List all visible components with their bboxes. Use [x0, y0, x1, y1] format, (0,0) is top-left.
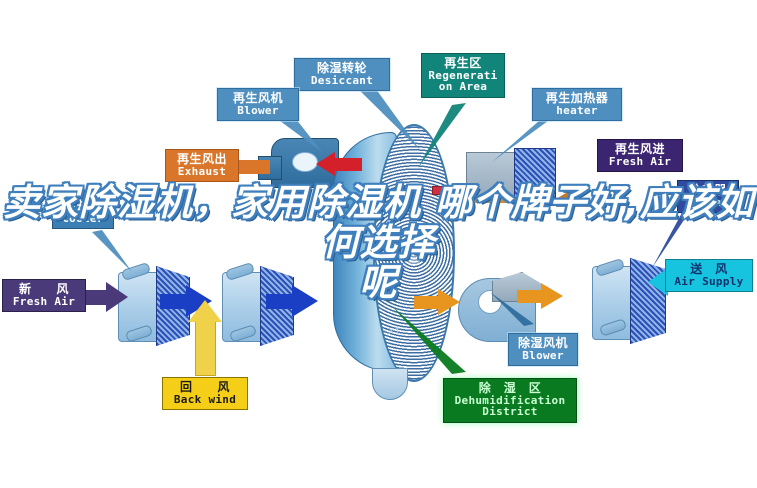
- process-flow-arrow-2: [266, 294, 294, 309]
- back-wind-flow-shaft: [195, 316, 216, 376]
- label-regeneration-heater[interactable]: 再生加热器 heater: [532, 88, 622, 121]
- label-regeneration-heater-cn: 再生加热器: [538, 92, 616, 105]
- label-cooler-right-cn: 冷却器: [683, 184, 733, 197]
- process-flow-arrowhead-2: [292, 285, 318, 317]
- regen-hot-flow-arrow: [334, 158, 362, 171]
- label-regeneration-exhaust-cn: 再生风出: [171, 153, 233, 166]
- label-air-supply[interactable]: 送 风 Air Supply: [665, 259, 753, 292]
- exhaust-flow-arrow: [236, 160, 270, 174]
- heater-base-strip: [466, 198, 566, 203]
- fresh-air-flow-arrow: [84, 290, 108, 305]
- label-cooler-right[interactable]: 冷却器 Cooler: [677, 180, 739, 213]
- label-back-wind-en: Back wind: [168, 394, 242, 406]
- label-back-wind[interactable]: 回 风 Back wind: [162, 377, 248, 410]
- regeneration-heater-body: [466, 152, 520, 202]
- label-fresh-air-inlet-cn: 新 风: [8, 283, 80, 296]
- regen-hot-flow-arrowhead: [316, 152, 335, 176]
- label-dehumidification-blower[interactable]: 除湿风机 Blower: [508, 333, 578, 366]
- back-wind-flow-arrowhead: [188, 300, 222, 322]
- dehumidifier-schematic-image: xt: [0, 0, 757, 488]
- fresh-air-flow-arrowhead: [106, 282, 128, 312]
- label-dehumidification-district-en2: District: [449, 406, 571, 418]
- label-regeneration-air-inlet-cn: 再生风进: [603, 143, 677, 156]
- wheel-hub: [403, 236, 423, 266]
- label-regeneration-blower-en: Blower: [223, 105, 293, 117]
- regen-inlet-flow-arrowhead: [556, 190, 571, 208]
- label-air-supply-cn: 送 风: [671, 263, 747, 276]
- label-regeneration-heater-en: heater: [538, 105, 616, 117]
- label-desiccant-wheel[interactable]: 除湿转轮 Desiccant: [294, 58, 390, 91]
- label-dehumidification-district-cn: 除 湿 区: [449, 382, 571, 395]
- wheel-drain-pan: [372, 368, 408, 400]
- label-regeneration-blower[interactable]: 再生风机 Blower: [217, 88, 299, 121]
- label-desiccant-wheel-en: Desiccant: [300, 75, 384, 87]
- label-back-wind-cn: 回 风: [168, 381, 242, 394]
- label-air-supply-en: Air Supply: [671, 276, 747, 288]
- blower-outlet-flow-arrow: [517, 290, 543, 303]
- label-dehumidification-blower-cn: 除湿风机: [514, 337, 572, 350]
- label-cooler-left[interactable]: 冷却器 Cooler: [52, 196, 114, 229]
- label-regeneration-area[interactable]: 再生区 Regenerati on Area: [421, 53, 505, 98]
- regeneration-blower-inlet-eye: [292, 152, 318, 172]
- label-cooler-left-en: Cooler: [58, 213, 108, 225]
- label-fresh-air-inlet[interactable]: 新 风 Fresh Air: [2, 279, 86, 312]
- label-regeneration-blower-cn: 再生风机: [223, 92, 293, 105]
- rotor-inlet-flow-arrow: [414, 296, 440, 309]
- label-desiccant-wheel-cn: 除湿转轮: [300, 62, 384, 75]
- label-regeneration-area-en2: on Area: [427, 81, 499, 93]
- label-cooler-right-en: Cooler: [683, 197, 733, 209]
- label-dehumidification-district[interactable]: 除 湿 区 Dehumidification District: [443, 378, 577, 423]
- label-regeneration-area-cn: 再生区: [427, 57, 499, 70]
- label-dehumidification-blower-en: Blower: [514, 350, 572, 362]
- heater-element-red: [432, 186, 468, 195]
- label-regeneration-exhaust[interactable]: 再生风出 Exhaust: [165, 149, 239, 182]
- process-flow-arrow-1: [160, 294, 188, 309]
- label-regeneration-air-inlet-en: Fresh Air: [603, 156, 677, 168]
- label-fresh-air-inlet-en: Fresh Air: [8, 296, 80, 308]
- blower-outlet-flow-arrowhead: [541, 283, 563, 309]
- label-regeneration-air-inlet[interactable]: 再生风进 Fresh Air: [597, 139, 683, 172]
- watermark-text: xt: [388, 324, 401, 337]
- rotor-inlet-flow-arrowhead: [438, 289, 460, 315]
- label-cooler-left-cn: 冷却器: [58, 200, 108, 213]
- label-regeneration-exhaust-en: Exhaust: [171, 166, 233, 178]
